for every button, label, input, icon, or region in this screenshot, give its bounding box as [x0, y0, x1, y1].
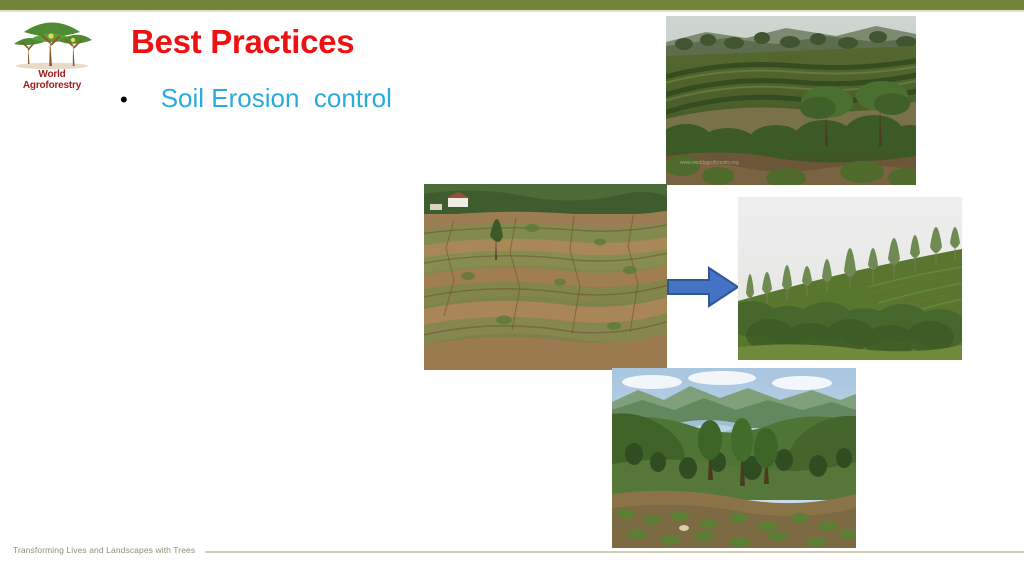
restored-hillside-image — [738, 197, 962, 360]
top-green-band — [0, 0, 1024, 10]
eroded-terraces-image — [424, 184, 667, 370]
world-agroforestry-logo: World Agroforestry — [6, 14, 98, 94]
photo-eroded-terraces — [424, 184, 667, 370]
photo-coffee-agroforestry: www.worldagroforestry.org — [666, 16, 916, 185]
bullet-item-label: Soil Erosion control — [161, 83, 392, 114]
arrow-right-icon — [667, 264, 739, 310]
svg-text:www.worldagroforestry.org: www.worldagroforestry.org — [680, 160, 739, 166]
logo-wordmark-line2: Agroforestry — [6, 80, 98, 91]
footer-divider — [205, 551, 1024, 553]
logo-wordmark-line1: World — [6, 69, 98, 80]
acacia-trees-icon — [6, 14, 98, 74]
logo-wordmark: World Agroforestry — [6, 69, 98, 91]
page-title: Best Practices — [131, 23, 354, 61]
photo-restored-hillside — [738, 197, 962, 360]
bullet-marker-icon: • — [120, 89, 128, 111]
photo-valley-landscape — [612, 368, 856, 548]
bullet-item-soil-erosion-control: • Soil Erosion control — [120, 83, 392, 114]
top-band-hairline — [0, 10, 1024, 12]
coffee-agroforestry-image: www.worldagroforestry.org — [666, 16, 916, 185]
blue-right-arrow — [667, 264, 739, 310]
valley-landscape-image — [612, 368, 856, 548]
footer-tagline: Transforming Lives and Landscapes with T… — [13, 545, 195, 555]
